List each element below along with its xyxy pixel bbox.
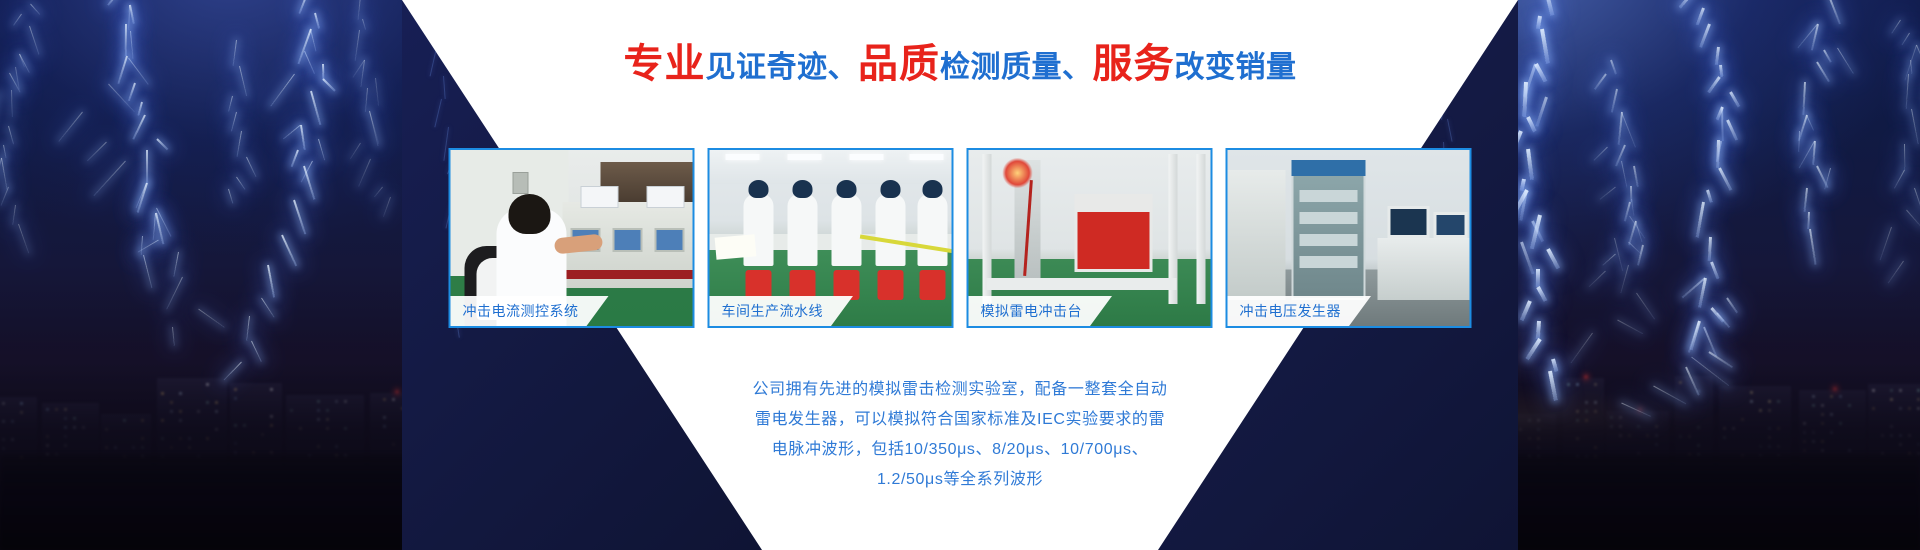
photo-caption: 模拟雷电冲击台 [969,296,1113,326]
photo-card[interactable]: 冲击电流测控系统 [449,148,695,328]
lightning-bolt-segment [146,150,148,184]
photo-caption: 冲击电压发生器 [1228,296,1372,326]
description-paragraph: 公司拥有先进的模拟雷击检测实验室，配备一整套全自动雷电发生器，可以模拟符合国家标… [640,375,1280,495]
lightning-bolt-segment [1630,186,1632,202]
wedge-lightning-filament [1447,119,1453,142]
photo-caption: 车间生产流水线 [710,296,854,326]
wedge-lightning-filament [434,99,442,127]
headline-segment-0: 专业 [624,42,706,86]
lightning-bolt-segment [1536,321,1541,339]
headline-segment-1: 见证奇迹、 [706,51,859,84]
paragraph-line-0: 公司拥有先进的模拟雷击检测实验室，配备一整套全自动 [640,375,1280,405]
photo-card[interactable]: 模拟雷电冲击台 [967,148,1213,328]
lightning-bolt-segment [1536,269,1540,287]
paragraph-line-1: 雷电发生器，可以模拟符合国家标准及IEC实验要求的雷 [640,405,1280,435]
headline: 专业见证奇迹、品质检测质量、服务改变销量 [0,44,1920,84]
headline-segment-4: 服务 [1093,42,1175,86]
headline-segment-5: 改变销量 [1175,51,1297,84]
lightning-bolt-segment [1716,140,1720,168]
photo-strip: 冲击电流测控系统 车间生产流水线 [449,148,1472,328]
photo-card[interactable]: 车间生产流水线 [708,148,954,328]
headline-segment-3: 检测质量、 [940,51,1093,84]
headline-segment-2: 品质 [858,42,940,86]
promo-banner: 专业见证奇迹、品质检测质量、服务改变销量 冲击电流测控系统 [0,0,1920,550]
paragraph-line-3: 1.2/50μs等全系列波形 [640,465,1280,495]
photo-caption: 冲击电流测控系统 [451,296,609,326]
photo-card[interactable]: 冲击电压发生器 [1226,148,1472,328]
paragraph-line-2: 电脉冲波形，包括10/350μs、8/20μs、10/700μs、 [640,435,1280,465]
